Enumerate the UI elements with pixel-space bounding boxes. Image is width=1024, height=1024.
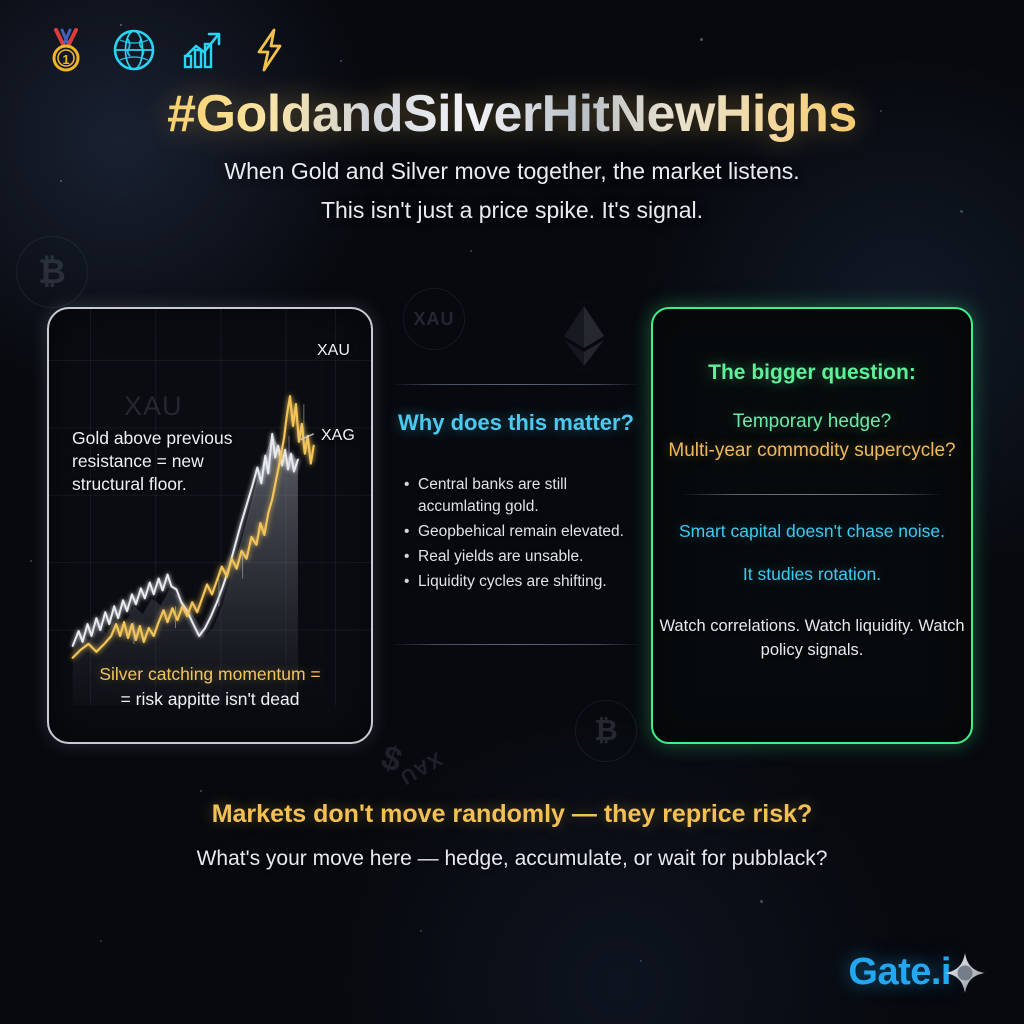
list-item: Central banks are still accumlating gold…	[404, 474, 640, 518]
star-dot	[640, 960, 642, 962]
middle-panel-heading: Why does this matter?	[392, 410, 640, 436]
lightning-icon	[246, 26, 294, 74]
svg-text:1: 1	[62, 52, 69, 67]
green-card-statement-1: Smart capital doesn't chase noise.	[653, 521, 971, 542]
header: 1 #GoldandSilverHitNewHighs When Gold an…	[0, 0, 1024, 224]
subtitle-line-1: When Gold and Silver move together, the …	[0, 158, 1024, 185]
green-card-statement-2: It studies rotation.	[653, 564, 971, 585]
panels-row: XAU Gold above previous resistance = new…	[0, 302, 1024, 744]
footer: Markets don't move randomly — they repri…	[0, 800, 1024, 871]
middle-panel: Why does this matter? Central banks are …	[392, 302, 640, 744]
green-card-question-2: Multi-year commodity supercycle?	[653, 439, 971, 464]
list-item: Real yields are unsable.	[404, 546, 640, 568]
list-item: Liquidity cycles are shifting.	[404, 571, 640, 593]
chart-increasing-icon	[178, 26, 226, 74]
divider	[392, 644, 640, 645]
star-dot	[760, 900, 763, 903]
green-card: The bigger question: Temporary hedge? Mu…	[651, 307, 973, 744]
star-dot	[470, 250, 472, 252]
divider	[681, 494, 943, 495]
divider	[392, 384, 640, 385]
chart-note-bottom-line-2: = risk appitte isn't dead	[49, 689, 371, 710]
subtitle-line-2: This isn't just a price spike. It's sign…	[0, 197, 1024, 224]
footer-line-2: What's your move here — hedge, accumulat…	[0, 847, 1024, 871]
series-label-xau: XAU	[317, 342, 350, 360]
emoji-row: 1	[0, 0, 1024, 74]
chart-card: XAU Gold above previous resistance = new…	[47, 307, 373, 744]
medal-icon: 1	[42, 26, 90, 74]
star-dot	[420, 930, 422, 932]
globe-icon	[110, 26, 158, 74]
brand-text: Gate.i	[848, 951, 951, 994]
list-item: Geopbehical remain elevated.	[404, 521, 640, 543]
bitcoin-watermark: ₿	[16, 236, 88, 308]
brand-logo: Gate.i	[848, 948, 988, 996]
star-dot	[200, 790, 202, 792]
footer-line-1: Markets don't move randomly — they repri…	[0, 800, 1024, 829]
green-card-question-1: Temporary hedge?	[653, 411, 971, 433]
chart-watermark: XAU	[124, 391, 183, 422]
gate-star-icon	[942, 950, 988, 996]
series-label-xag: XAG	[321, 427, 355, 445]
page-title: #GoldandSilverHitNewHighs	[0, 84, 1024, 144]
green-card-title: The bigger question:	[653, 361, 971, 385]
star-dot	[100, 940, 102, 942]
green-card-watch-text: Watch correlations. Watch liquidity. Wat…	[653, 615, 971, 663]
chart-note-bottom: Silver catching momentum = = risk appitt…	[49, 664, 371, 710]
chart-note-bottom-line-1: Silver catching momentum =	[49, 664, 371, 685]
middle-panel-bullets: Central banks are still accumlating gold…	[404, 474, 640, 596]
chart-note-top: Gold above previous resistance = new str…	[72, 427, 262, 496]
